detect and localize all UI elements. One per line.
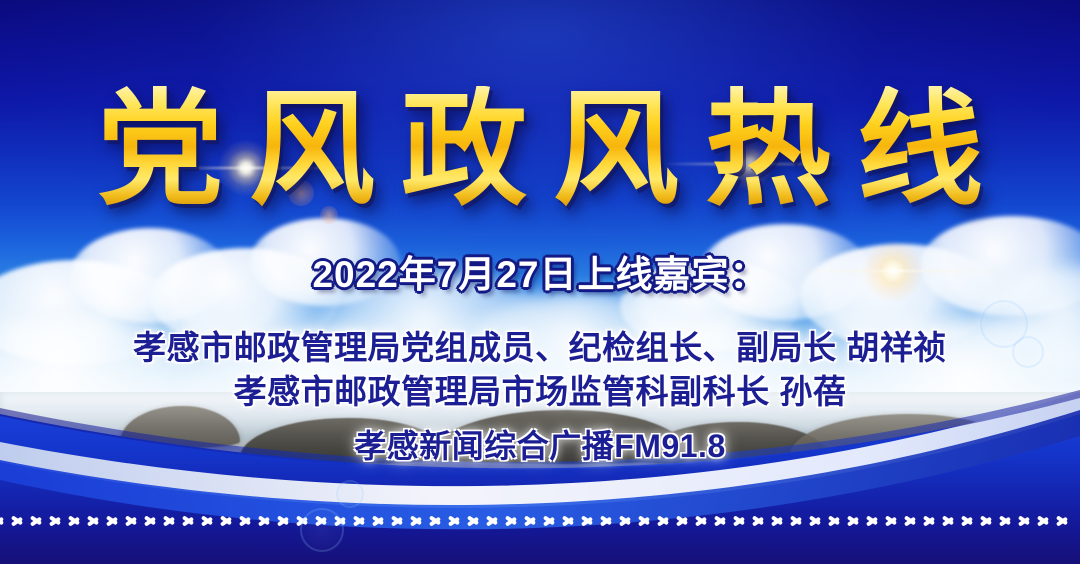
- chevron-right-icon: [866, 510, 882, 532]
- chevron-right-icon: [448, 510, 464, 532]
- chevron-right-icon: [144, 510, 160, 532]
- chevron-right-icon: [87, 510, 103, 532]
- chevron-right-icon: [695, 510, 711, 532]
- chevron-right-icon: [315, 510, 331, 532]
- title-char: 热: [705, 86, 831, 212]
- chevron-right-icon: [239, 510, 255, 532]
- title-char: 政: [401, 86, 527, 212]
- chevron-right-icon: [562, 510, 578, 532]
- chevron-arrow-strip: [0, 508, 1080, 534]
- title-char: 党: [97, 86, 223, 212]
- chevron-right-icon: [600, 510, 616, 532]
- chevron-right-icon: [885, 510, 901, 532]
- title-char: 风: [249, 86, 375, 212]
- chevron-right-icon: [752, 510, 768, 532]
- chevron-right-icon: [847, 510, 863, 532]
- chevron-right-icon: [961, 510, 977, 532]
- chevron-right-icon: [429, 510, 445, 532]
- chevron-right-icon: [163, 510, 179, 532]
- chevron-right-icon: [1037, 510, 1053, 532]
- chevron-right-icon: [581, 510, 597, 532]
- chevron-right-icon: [0, 510, 8, 532]
- chevron-right-icon: [524, 510, 540, 532]
- chevron-right-icon: [790, 510, 806, 532]
- chevron-right-icon: [809, 510, 825, 532]
- broadcast-date-guest-label: 2022年7月27日上线嘉宾：: [0, 256, 1080, 293]
- station-line: 孝感新闻综合广播FM91.8: [0, 424, 1080, 468]
- guest-line: 孝感市邮政管理局市场监管科副科长 孙蓓: [0, 370, 1080, 414]
- chevron-right-icon: [220, 510, 236, 532]
- poster-canvas: 党 风 政 风 热 线 2022年7月27日上线嘉宾： 孝感市邮政管理局党组成员…: [0, 0, 1080, 564]
- chevron-right-icon: [372, 510, 388, 532]
- chevron-right-icon: [1056, 510, 1072, 532]
- chevron-right-icon: [296, 510, 312, 532]
- chevron-right-icon: [657, 510, 673, 532]
- chevron-right-icon: [125, 510, 141, 532]
- chevron-right-icon: [619, 510, 635, 532]
- chevron-right-icon: [923, 510, 939, 532]
- chevron-right-icon: [353, 510, 369, 532]
- chevron-right-icon: [277, 510, 293, 532]
- chevron-right-icon: [1018, 510, 1034, 532]
- chevron-right-icon: [999, 510, 1015, 532]
- chevron-right-icon: [733, 510, 749, 532]
- chevron-right-icon: [334, 510, 350, 532]
- chevron-right-icon: [258, 510, 274, 532]
- chevron-right-icon: [201, 510, 217, 532]
- chevron-right-icon: [942, 510, 958, 532]
- chevron-right-icon: [638, 510, 654, 532]
- chevron-right-icon: [30, 510, 46, 532]
- chevron-right-icon: [828, 510, 844, 532]
- chevron-right-icon: [106, 510, 122, 532]
- chevron-right-icon: [467, 510, 483, 532]
- chevron-right-icon: [505, 510, 521, 532]
- chevron-right-icon: [980, 510, 996, 532]
- poster-title: 党 风 政 风 热 线: [0, 74, 1080, 224]
- title-char: 风: [553, 86, 679, 212]
- chevron-right-icon: [771, 510, 787, 532]
- chevron-right-icon: [49, 510, 65, 532]
- guest-list: 孝感市邮政管理局党组成员、纪检组长、副局长 胡祥祯 孝感市邮政管理局市场监管科副…: [0, 326, 1080, 468]
- chevron-right-icon: [182, 510, 198, 532]
- chevron-right-icon: [410, 510, 426, 532]
- chevron-right-icon: [11, 510, 27, 532]
- guest-line: 孝感市邮政管理局党组成员、纪检组长、副局长 胡祥祯: [0, 326, 1080, 370]
- chevron-right-icon: [68, 510, 84, 532]
- chevron-right-icon: [543, 510, 559, 532]
- chevron-right-icon: [904, 510, 920, 532]
- chevron-right-icon: [676, 510, 692, 532]
- chevron-right-icon: [714, 510, 730, 532]
- title-char: 线: [857, 86, 983, 212]
- chevron-right-icon: [391, 510, 407, 532]
- chevron-right-icon: [486, 510, 502, 532]
